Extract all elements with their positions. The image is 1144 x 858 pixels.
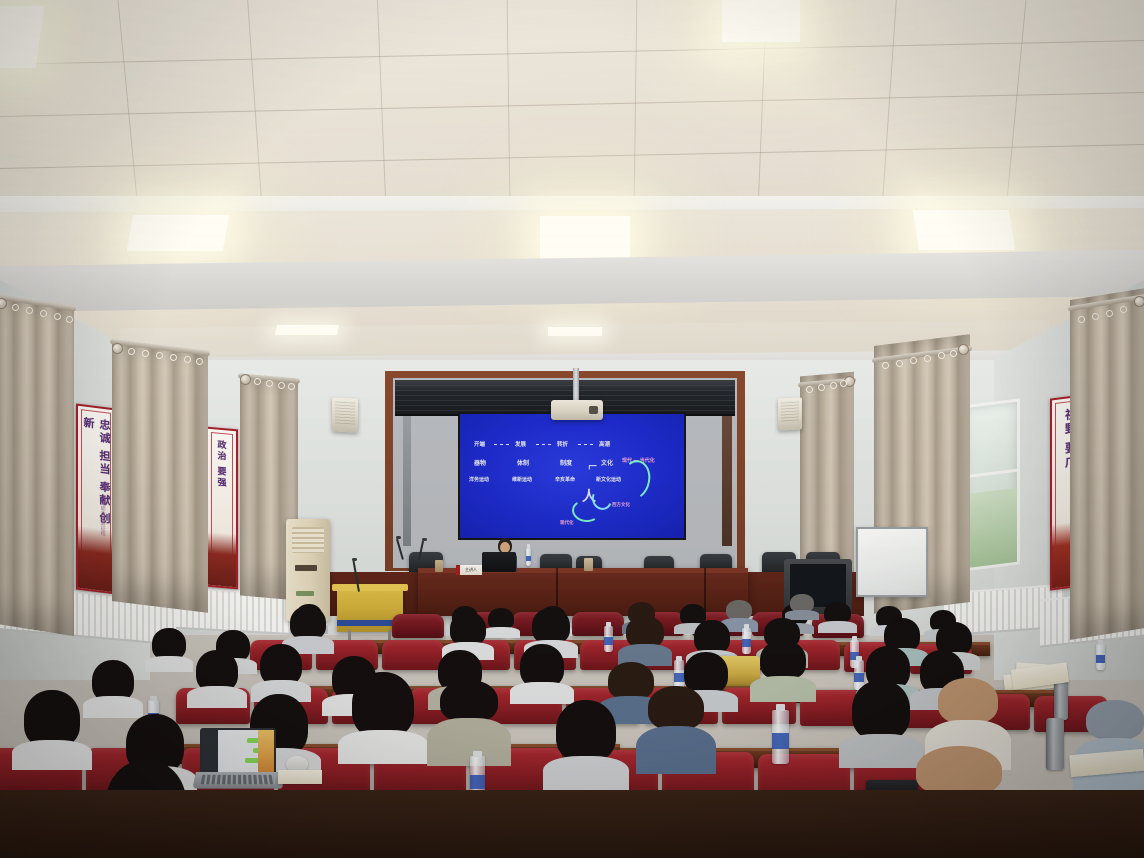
attendee <box>196 650 238 708</box>
curtain-ring <box>266 380 273 387</box>
wall-speaker-left <box>332 397 358 432</box>
window-curtain[interactable] <box>112 339 208 613</box>
microphone-head <box>396 536 401 539</box>
paper-sheet <box>278 770 322 784</box>
table-cup <box>584 558 593 571</box>
attendee <box>440 680 498 766</box>
slide-r2-c4: 文化 <box>601 458 613 467</box>
slide-label-modern: 现代化 <box>560 520 574 526</box>
slide-bracket: ⌐ <box>588 458 597 476</box>
slide-r1-c1: 开端 <box>474 440 485 448</box>
curtain-ring <box>1092 313 1099 320</box>
lecture-hall-photo: 忠诚 担当 奉献 创新 砥砺奋进新征程 政治 要强 <box>0 0 1144 858</box>
curtain-ring <box>818 384 825 391</box>
attendee <box>648 686 704 774</box>
projector-lens <box>589 406 598 414</box>
slide-r1-c3: 转折 <box>557 440 568 448</box>
attendee <box>824 602 851 633</box>
slide-r3-c4: 新文化运动 <box>596 476 621 483</box>
ac-display-panel <box>295 565 317 571</box>
attendee <box>790 594 814 620</box>
whiteboard <box>856 527 928 597</box>
curtain-ring <box>184 356 191 363</box>
ceiling-light-3 <box>127 215 229 251</box>
water-bottle <box>772 710 789 764</box>
window-curtain[interactable] <box>1070 288 1144 640</box>
curtain-rod-cap <box>112 343 123 354</box>
ceiling-light-7 <box>548 327 602 336</box>
slide-r3-c2: 维新运动 <box>512 476 532 483</box>
name-card: 主讲人 <box>456 565 482 575</box>
attendee <box>24 690 80 770</box>
curtain-ring <box>66 316 73 323</box>
wall-poster: 政治 要强 <box>206 427 238 590</box>
attendee <box>556 700 616 790</box>
slide-r3-c3: 辛亥革命 <box>555 476 575 483</box>
auditorium-seat[interactable] <box>572 612 624 636</box>
slide-arrow-1 <box>494 444 512 445</box>
curtain-ring <box>196 358 203 365</box>
curtain-ring <box>26 307 33 314</box>
curtain-ring <box>950 350 957 357</box>
laptop-screen <box>202 730 274 772</box>
curtain-ring <box>170 354 177 361</box>
curtain-ring <box>142 350 149 357</box>
ac-vent <box>292 527 324 553</box>
curtain-ring <box>830 382 837 389</box>
curtain-rod-cap <box>1134 296 1144 307</box>
ceiling-light-2 <box>722 0 800 42</box>
slide-label-west: 西方文化 <box>612 502 630 508</box>
slide-r1-c4: 高潮 <box>599 440 610 448</box>
curtain-ring <box>910 357 917 364</box>
slide-r2-c2: 体制 <box>517 458 529 467</box>
slide-r1-c2: 发展 <box>515 440 526 448</box>
slide-r3-c1: 洋务运动 <box>469 476 489 483</box>
curtain-ring <box>938 352 945 359</box>
stage-side-panel-left <box>403 416 411 546</box>
projector-mount-pole <box>573 368 579 402</box>
thermos-flask <box>1054 680 1068 720</box>
slide-arrow-3 <box>578 444 596 445</box>
attendee <box>352 672 414 764</box>
curtain-ring <box>806 386 813 393</box>
curtain-rod-cap <box>240 374 251 385</box>
ceiling-light-6 <box>275 325 339 335</box>
curtain-ring <box>924 355 931 362</box>
ceiling-light-5 <box>913 210 1015 250</box>
attendee <box>852 680 910 768</box>
curtain-ring <box>254 378 261 385</box>
ceiling-projector <box>551 400 603 420</box>
thermos-flask <box>1046 718 1064 770</box>
slide-r2-c1: 器物 <box>474 458 486 467</box>
microphone-head <box>422 538 427 541</box>
presenter-laptop <box>482 552 516 572</box>
laptop-keys <box>201 775 276 784</box>
laptop-lid <box>200 728 276 774</box>
curtain-ring <box>288 383 295 390</box>
auditorium-seat[interactable] <box>382 640 444 670</box>
water-bottle <box>604 626 613 652</box>
curtain-ring <box>882 362 889 369</box>
poster-text: 忠诚 担当 奉献 创新 <box>80 416 112 536</box>
window <box>962 398 1020 571</box>
slide-arrow-2 <box>536 444 554 445</box>
auditorium-seat[interactable] <box>392 614 444 638</box>
water-bottle <box>1096 644 1105 670</box>
curtain-ring <box>40 310 47 317</box>
projection-screen: 开端 发展 转折 高潮 器物 体制 制度 文化 现代 — 当代化 洋务运动 维新… <box>458 412 686 540</box>
ceiling-back-panel <box>0 0 1144 200</box>
laptop-keyboard-base[interactable] <box>192 772 284 789</box>
slide-r2-c3: 制度 <box>560 458 572 467</box>
attendee <box>1086 700 1144 790</box>
curtain-rod-cap <box>958 344 969 355</box>
curtain-ring <box>54 313 61 320</box>
wall-poster: 忠诚 担当 奉献 创新 砥砺奋进新征程 <box>76 404 116 595</box>
curtain-ring <box>1078 316 1085 323</box>
table-cup <box>435 560 443 572</box>
curtain-ring <box>1106 310 1113 317</box>
chat-sidebar <box>202 730 218 772</box>
attendee <box>520 644 564 704</box>
ceiling-light-4 <box>540 216 630 262</box>
window-curtain[interactable] <box>0 294 74 636</box>
curtain-ring <box>128 348 135 355</box>
curtain-ring <box>840 380 847 387</box>
attendee <box>760 640 806 702</box>
ac-logo <box>296 591 314 596</box>
attendee <box>488 608 514 638</box>
wall-speaker-right <box>778 397 802 430</box>
stage-side-panel-right <box>722 416 732 546</box>
poster-text: 政治 要强 <box>216 439 229 536</box>
floor <box>0 790 1144 858</box>
curtain-ring <box>1120 306 1127 313</box>
microphone-head <box>352 558 357 561</box>
curtain-ring <box>12 304 19 311</box>
promo-banner <box>258 730 274 772</box>
attendee <box>152 628 186 672</box>
water-bottle <box>526 548 531 566</box>
curtain-ring <box>278 382 285 389</box>
attendee <box>92 660 134 718</box>
lectern-top-ledge <box>332 584 408 591</box>
curtain-ring <box>156 352 163 359</box>
attendee-laptop[interactable] <box>196 728 280 790</box>
attendee <box>626 616 664 666</box>
curtain-ring <box>896 360 903 367</box>
water-bottle <box>742 628 751 654</box>
